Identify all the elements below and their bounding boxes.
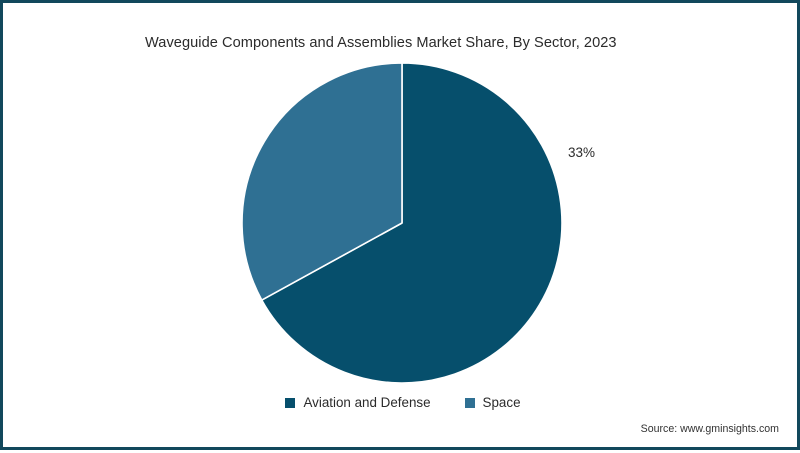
pie-chart-svg — [3, 3, 800, 453]
legend-swatch-icon — [465, 398, 475, 408]
pie-chart — [3, 3, 800, 453]
legend-item-space[interactable]: Space — [465, 395, 521, 411]
legend-item-label: Aviation and Defense — [303, 395, 430, 411]
slice-value-label: 33% — [568, 145, 595, 160]
legend-item-aviation-and-defense[interactable]: Aviation and Defense — [285, 395, 430, 411]
chart-frame: Waveguide Components and Assemblies Mark… — [0, 0, 800, 450]
legend-swatch-icon — [285, 398, 295, 408]
pie-slice-group — [242, 63, 562, 383]
legend-item-label: Space — [483, 395, 521, 411]
source-note: Source: www.gminsights.com — [641, 423, 779, 435]
chart-legend: Aviation and Defense Space — [3, 395, 800, 411]
